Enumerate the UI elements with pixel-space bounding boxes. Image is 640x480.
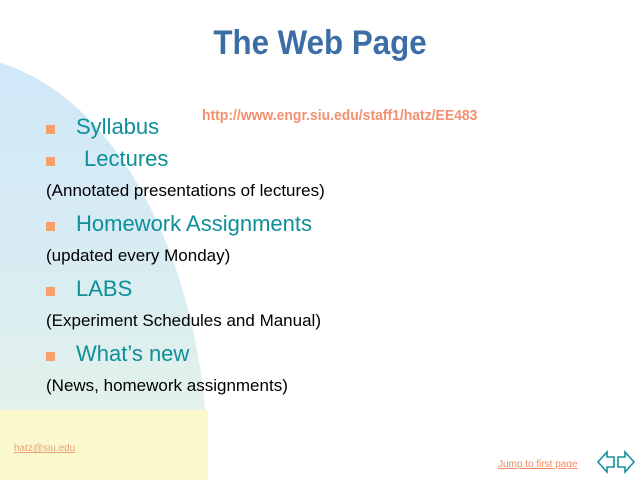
list-item-note: (Experiment Schedules and Manual): [46, 308, 606, 341]
jump-to-first-page-link[interactable]: Jump to first page: [498, 459, 577, 470]
bullet-square-icon: [46, 125, 55, 134]
navigation-arrows[interactable]: [596, 450, 636, 474]
list-item-label: What’s new: [76, 341, 189, 367]
list-item-label: Lectures: [84, 146, 168, 172]
content-list: Syllabus Lectures (Annotated presentatio…: [46, 114, 606, 406]
list-item[interactable]: Lectures: [46, 146, 606, 178]
list-item-note: (News, homework assignments): [46, 373, 606, 406]
contact-email-link[interactable]: hatz@siu.edu: [14, 443, 75, 454]
list-item-label: Homework Assignments: [76, 211, 312, 237]
bullet-square-icon: [46, 222, 55, 231]
list-item[interactable]: What’s new: [46, 341, 606, 373]
list-item[interactable]: Homework Assignments: [46, 211, 606, 243]
list-item-label: LABS: [76, 276, 132, 302]
list-item-note: (Annotated presentations of lectures): [46, 178, 606, 211]
bullet-square-icon: [46, 352, 55, 361]
arrow-left-outline-icon[interactable]: [598, 452, 614, 472]
arrow-right-outline-icon[interactable]: [618, 452, 634, 472]
bullet-square-icon: [46, 157, 55, 166]
list-item-note: (updated every Monday): [46, 243, 606, 276]
list-item[interactable]: LABS: [46, 276, 606, 308]
slide-canvas: The Web Page http://www.engr.siu.edu/sta…: [0, 0, 640, 480]
bullet-square-icon: [46, 287, 55, 296]
list-item-label: Syllabus: [76, 114, 159, 140]
page-title: The Web Page: [26, 24, 615, 63]
list-item[interactable]: Syllabus: [46, 114, 606, 146]
